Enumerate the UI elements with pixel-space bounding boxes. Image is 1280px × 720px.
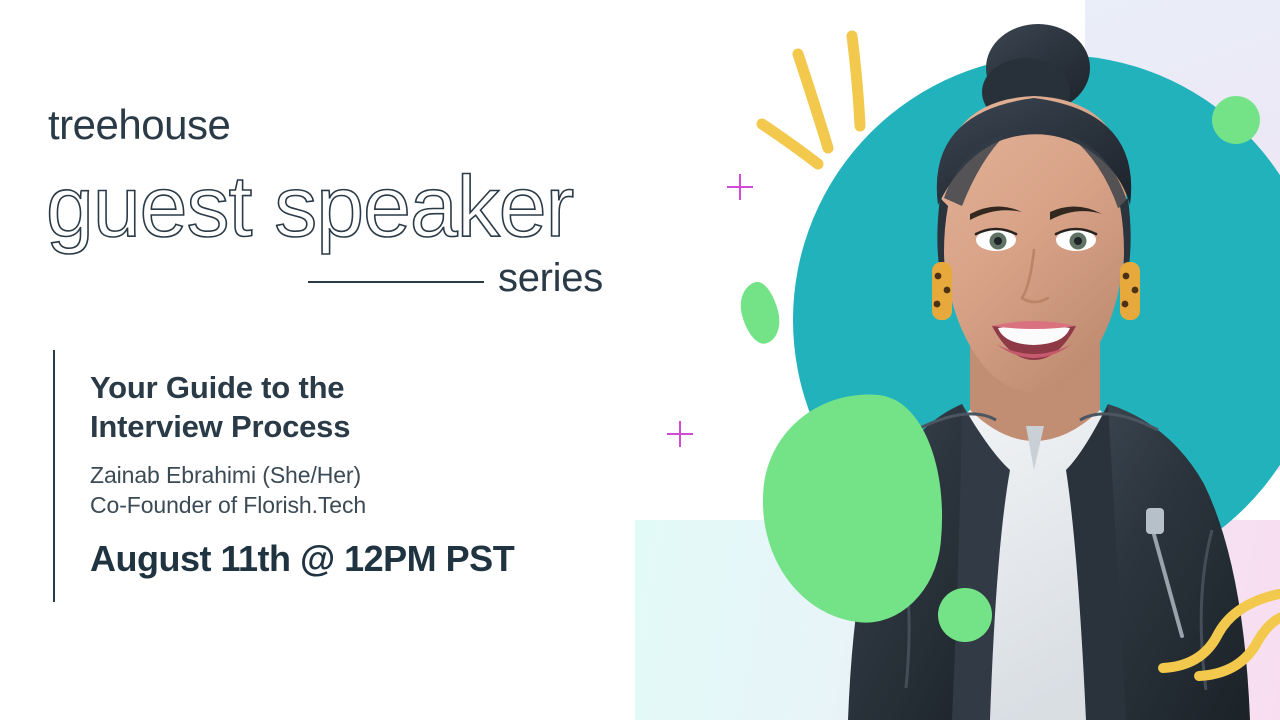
series-divider-rule [308,281,484,283]
brand-name: treehouse [48,104,230,146]
magenta-plus-icon-upper [727,174,753,200]
talk-title: Your Guide to the Interview Process [90,368,650,446]
yellow-dash-burst-icon [740,30,900,190]
info-accent-rule [53,350,55,602]
talk-title-line-2: Interview Process [90,409,350,444]
series-label: series [498,258,603,298]
event-datetime: August 11th @ 12PM PST [90,539,650,579]
green-dot-accent [938,588,992,642]
talk-title-line-1: Your Guide to the [90,370,344,405]
yellow-squiggle-icon [1155,580,1280,720]
event-info-block: Your Guide to the Interview Process Zain… [90,368,650,578]
speaker-name: Zainab Ebrahimi (She/Her) [90,460,650,490]
speaker-role: Co-Founder of Florish.Tech [90,490,650,520]
headline-text: guest speaker [46,160,574,255]
plus-vertical-bar [739,174,741,200]
headline-outline: guest speaker [36,160,676,260]
plus-vertical-bar [679,421,681,447]
magenta-plus-icon-lower [667,421,693,447]
green-blob-small [735,279,785,348]
promo-slide: treehouse guest speaker series Your Guid… [0,0,1280,720]
